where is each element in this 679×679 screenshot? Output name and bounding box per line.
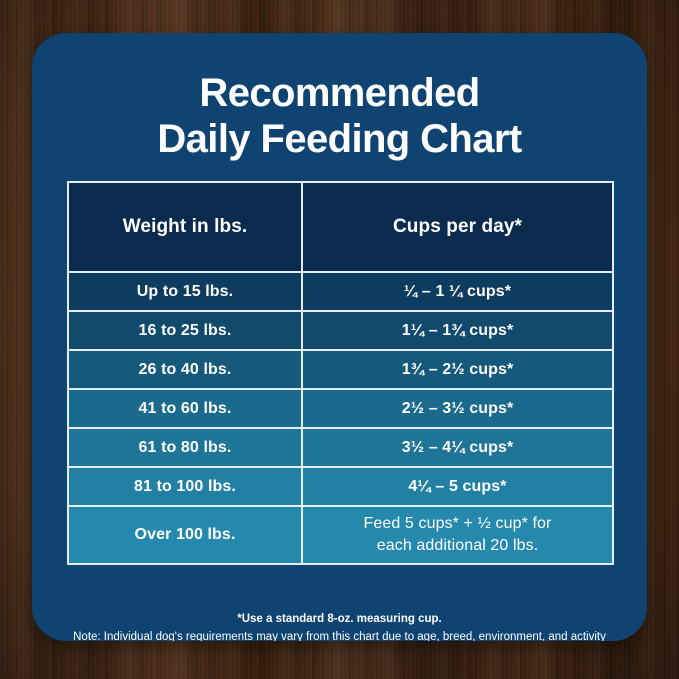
cell-cups: 1¼ – 1¾ cups* (302, 311, 613, 350)
cell-cups: 4¼ – 5 cups* (302, 467, 613, 506)
cell-weight: Up to 15 lbs. (68, 272, 302, 311)
footnote-line-2: Note: Individual dog's requirements may … (60, 629, 619, 641)
footnote: *Use a standard 8-oz. measuring cup. Not… (60, 611, 619, 641)
table-row: 16 to 25 lbs. 1¼ – 1¾ cups* (68, 311, 613, 350)
cell-weight: 81 to 100 lbs. (68, 467, 302, 506)
table-row: Up to 15 lbs. ¼ – 1 ¼ cups* (68, 272, 613, 311)
cell-cups: 3½ – 4¼ cups* (302, 428, 613, 467)
cell-cups-line-2: each additional 20 lbs. (377, 537, 539, 554)
cell-cups: ¼ – 1 ¼ cups* (302, 272, 613, 311)
title-line-1: Recommended (32, 71, 647, 117)
cell-cups: 2½ – 3½ cups* (302, 389, 613, 428)
cell-weight: 41 to 60 lbs. (68, 389, 302, 428)
cell-weight: Over 100 lbs. (68, 506, 302, 564)
cell-cups: 1¾ – 2½ cups* (302, 350, 613, 389)
cell-weight: 26 to 40 lbs. (68, 350, 302, 389)
feeding-table: Weight in lbs. Cups per day* Up to 15 lb… (67, 181, 614, 565)
table-row: 26 to 40 lbs. 1¾ – 2½ cups* (68, 350, 613, 389)
title-line-2: Daily Feeding Chart (32, 117, 647, 163)
table-row: 41 to 60 lbs. 2½ – 3½ cups* (68, 389, 613, 428)
footnote-line-1: *Use a standard 8-oz. measuring cup. (60, 611, 619, 629)
page-title: Recommended Daily Feeding Chart (32, 33, 647, 162)
column-header-weight: Weight in lbs. (68, 182, 302, 272)
table-row: 61 to 80 lbs. 3½ – 4¼ cups* (68, 428, 613, 467)
cell-cups: Feed 5 cups* + ½ cup* for each additiona… (302, 506, 613, 564)
cell-cups-line-1: Feed 5 cups* + ½ cup* for (364, 515, 552, 532)
column-header-cups: Cups per day* (302, 182, 613, 272)
table-row: Over 100 lbs. Feed 5 cups* + ½ cup* for … (68, 506, 613, 564)
cell-weight: 61 to 80 lbs. (68, 428, 302, 467)
feeding-chart-card: Recommended Daily Feeding Chart Weight i… (32, 33, 647, 641)
table-header-row: Weight in lbs. Cups per day* (68, 182, 613, 272)
cell-weight: 16 to 25 lbs. (68, 311, 302, 350)
table-row: 81 to 100 lbs. 4¼ – 5 cups* (68, 467, 613, 506)
